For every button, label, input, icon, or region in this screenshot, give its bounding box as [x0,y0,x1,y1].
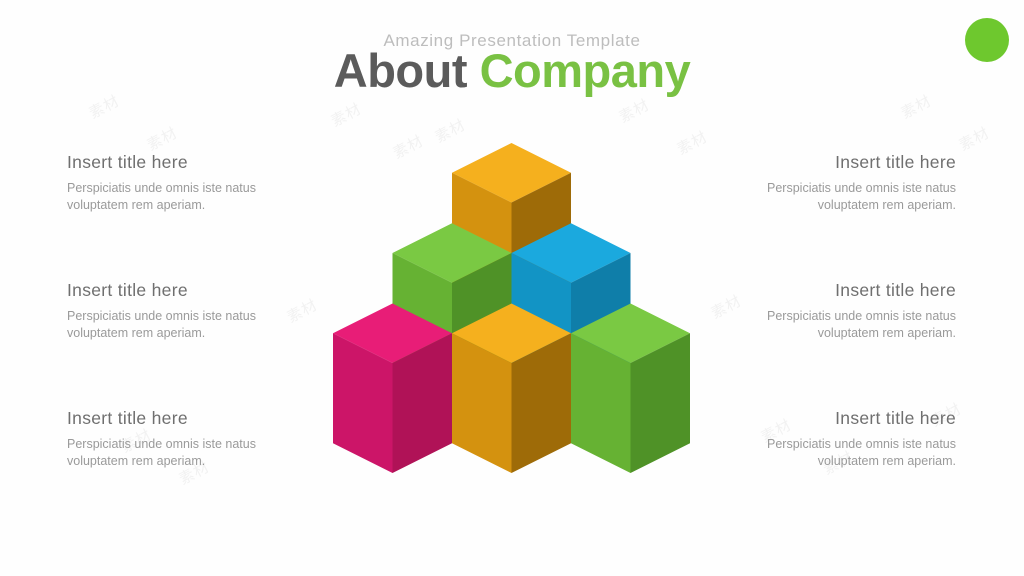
info-block-right-1: Insert title here Perspiciatis unde omni… [751,152,956,213]
cube-bottom-center-orange [452,304,571,474]
page-title-primary: About [334,44,480,97]
info-block-left-1: Insert title here Perspiciatis unde omni… [67,152,272,213]
page-title-accent: Company [480,44,691,97]
info-block-title: Insert title here [751,280,956,301]
info-block-right-3: Insert title here Perspiciatis unde omni… [751,408,956,469]
presentation-slide: 素材 素材 素材 素材 素材 素材 素材 素材 素材 素材 素材 素材 素材 素… [0,0,1024,576]
isometric-cube-pyramid [325,136,700,484]
green-circle-accent [965,18,1009,62]
info-block-body: Perspiciatis unde omnis iste natus volup… [751,180,956,213]
watermark-mark: 素材 [955,122,993,156]
watermark-mark: 素材 [143,122,181,156]
cube-bottom-left-pink [333,304,452,474]
info-block-title: Insert title here [751,152,956,173]
info-block-left-3: Insert title here Perspiciatis unde omni… [67,408,272,469]
info-block-body: Perspiciatis unde omnis iste natus volup… [67,436,272,469]
info-block-title: Insert title here [67,280,272,301]
watermark-mark: 素材 [707,290,745,324]
info-block-left-2: Insert title here Perspiciatis unde omni… [67,280,272,341]
page-title: About Company [0,46,1024,95]
cube-bottom-right-green [571,304,690,474]
info-block-title: Insert title here [67,152,272,173]
watermark-mark: 素材 [283,294,321,328]
info-block-title: Insert title here [67,408,272,429]
info-block-right-2: Insert title here Perspiciatis unde omni… [751,280,956,341]
watermark-mark: 素材 [327,98,365,132]
info-block-title: Insert title here [751,408,956,429]
watermark-mark: 素材 [615,94,653,128]
cube-pyramid-graphic [325,136,700,484]
info-block-body: Perspiciatis unde omnis iste natus volup… [751,436,956,469]
info-block-body: Perspiciatis unde omnis iste natus volup… [67,180,272,213]
info-block-body: Perspiciatis unde omnis iste natus volup… [751,308,956,341]
info-block-body: Perspiciatis unde omnis iste natus volup… [67,308,272,341]
